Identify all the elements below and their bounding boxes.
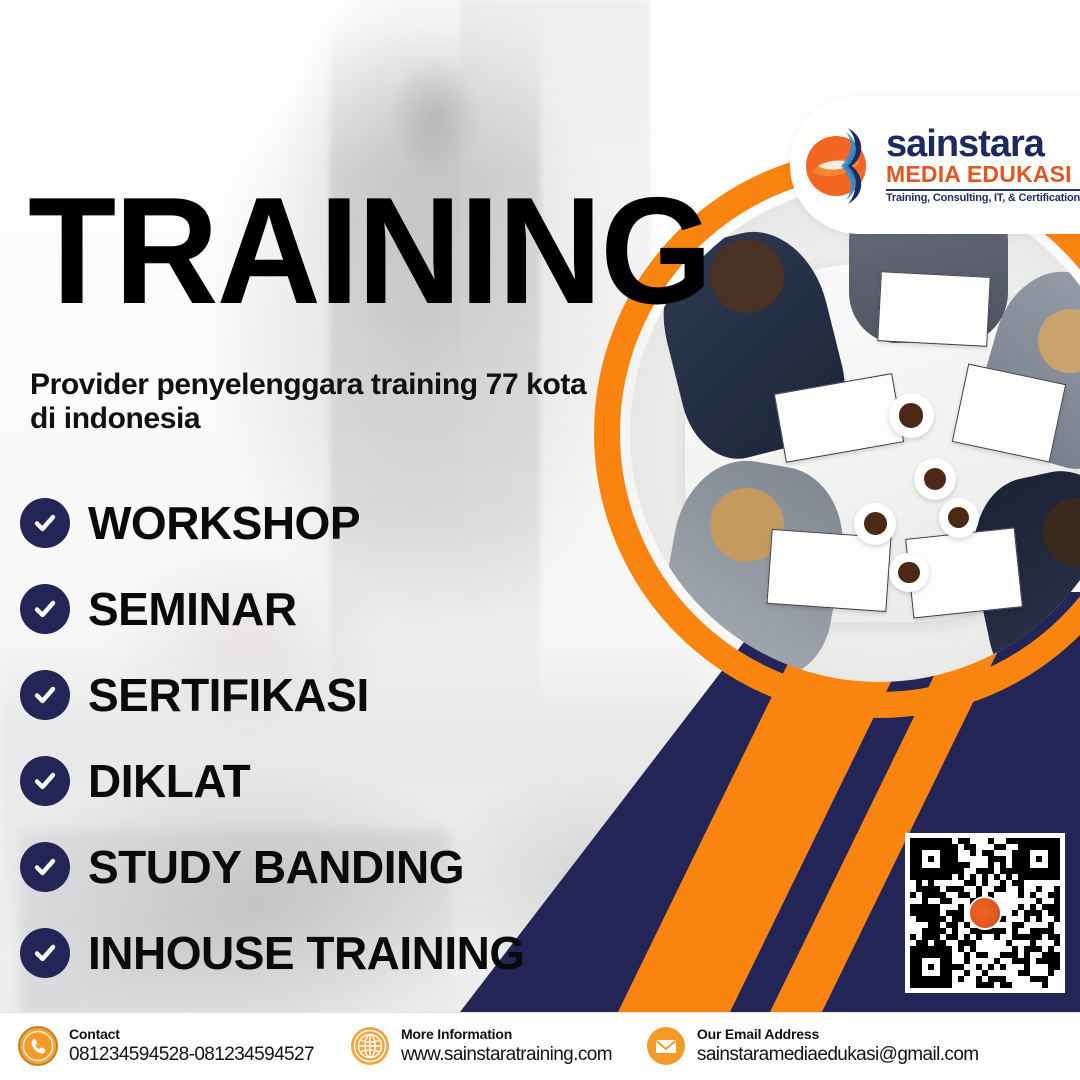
footer-website-value: www.sainstaratraining.com	[401, 1044, 612, 1065]
check-circle-icon	[20, 756, 70, 806]
list-item: INHOUSE TRAINING	[20, 912, 525, 994]
brand-name: sainstara	[886, 126, 1080, 162]
check-circle-icon	[20, 670, 70, 720]
check-circle-icon	[20, 498, 70, 548]
check-circle-icon	[20, 928, 70, 978]
qr-code-matrix	[910, 838, 1060, 988]
footer-contact[interactable]: Contact 081234594528-081234594527	[18, 1026, 314, 1067]
list-item: SERTIFIKASI	[20, 654, 525, 736]
service-label: WORKSHOP	[88, 496, 360, 550]
brand-divider	[886, 189, 1080, 191]
service-label: INHOUSE TRAINING	[88, 926, 525, 980]
contact-footer: Contact 081234594528-081234594527 More	[0, 1012, 1080, 1080]
brand-logo-text: sainstara MEDIA EDUKASI Training, Consul…	[886, 126, 1080, 204]
service-list: WORKSHOP SEMINAR SERTIFIKASI DIKLAT STUD…	[20, 482, 525, 994]
phone-icon	[18, 1026, 58, 1066]
check-circle-icon	[20, 584, 70, 634]
list-item: DIKLAT	[20, 740, 525, 822]
footer-email[interactable]: Our Email Address sainstaramediaedukasi@…	[646, 1026, 979, 1067]
footer-email-value: sainstaramediaedukasi@gmail.com	[697, 1044, 979, 1065]
footer-contact-text: Contact 081234594528-081234594527	[69, 1026, 314, 1067]
footer-website[interactable]: More Information www.sainstaratraining.c…	[350, 1026, 612, 1067]
service-label: SERTIFIKASI	[88, 668, 369, 722]
footer-website-label: More Information	[401, 1026, 512, 1042]
footer-website-text: More Information www.sainstaratraining.c…	[401, 1026, 612, 1067]
brand-logo-card: sainstara MEDIA EDUKASI Training, Consul…	[790, 96, 1080, 234]
envelope-icon	[646, 1026, 686, 1066]
page-title: TRAINING	[28, 186, 711, 317]
page-subtitle: Provider penyelenggara training 77 kota …	[30, 368, 610, 435]
brand-tagline: Training, Consulting, IT, & Certificatio…	[886, 192, 1080, 204]
service-label: DIKLAT	[88, 754, 250, 808]
qr-center-logo	[970, 898, 1000, 928]
list-item: SEMINAR	[20, 568, 525, 650]
globe-icon	[350, 1026, 390, 1066]
footer-contact-value: 081234594528-081234594527	[69, 1044, 314, 1065]
service-label: STUDY BANDING	[88, 840, 464, 894]
footer-email-text: Our Email Address sainstaramediaedukasi@…	[697, 1026, 979, 1067]
footer-contact-label: Contact	[69, 1026, 120, 1042]
footer-email-label: Our Email Address	[697, 1026, 819, 1042]
list-item: WORKSHOP	[20, 482, 525, 564]
list-item: STUDY BANDING	[20, 826, 525, 908]
brand-subname: MEDIA EDUKASI	[886, 162, 1080, 187]
sainstara-flame-icon	[804, 122, 880, 208]
service-label: SEMINAR	[88, 582, 297, 636]
poster-canvas: sainstara MEDIA EDUKASI Training, Consul…	[0, 0, 1080, 1080]
qr-code[interactable]	[905, 833, 1065, 993]
check-circle-icon	[20, 842, 70, 892]
